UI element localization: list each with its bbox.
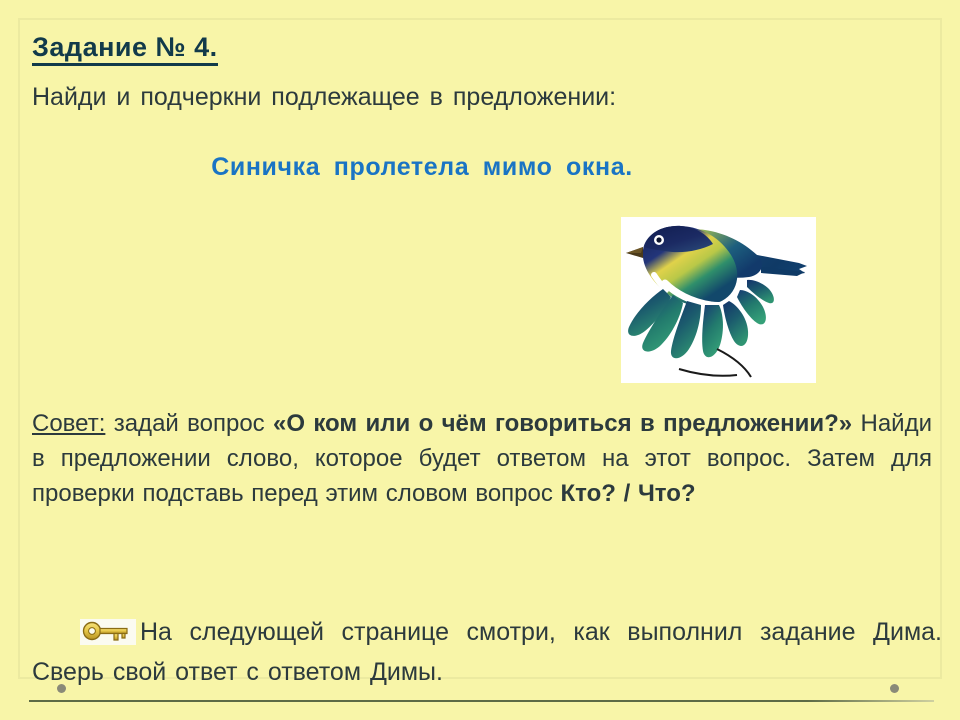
closing-paragraph: На следующей странице смотри, как выполн… [32, 612, 942, 692]
slide-canvas: Задание № 4. Найди и подчеркни подлежаще… [0, 0, 960, 720]
target-sentence: Синичка пролетела мимо окна. [32, 153, 812, 182]
hint-paragraph: Совет: задай вопрос «О ком или о чём гов… [32, 406, 932, 511]
key-icon [80, 619, 136, 645]
page-title-prefix: Задание [32, 32, 156, 62]
page-title: Задание № 4. [32, 32, 218, 63]
hint-label: Совет: [32, 410, 105, 437]
ornament-dot-right [890, 684, 899, 693]
instruction-text: Найди и подчеркни подлежащее в предложен… [32, 80, 912, 114]
hint-text-1: задай вопрос [105, 410, 273, 437]
ornament-dot-left [57, 684, 66, 693]
hint-question: «О ком или о чём говориться в предложени… [273, 410, 852, 437]
closing-text: На следующей странице смотри, как выполн… [32, 618, 942, 686]
page-title-number: № 4. [156, 32, 218, 62]
ornament-rule [29, 700, 934, 702]
content-frame: Задание № 4. Найди и подчеркни подлежаще… [18, 18, 942, 679]
flying-bird-illustration [621, 217, 816, 383]
hint-check-question: Кто? / Что? [561, 480, 696, 507]
